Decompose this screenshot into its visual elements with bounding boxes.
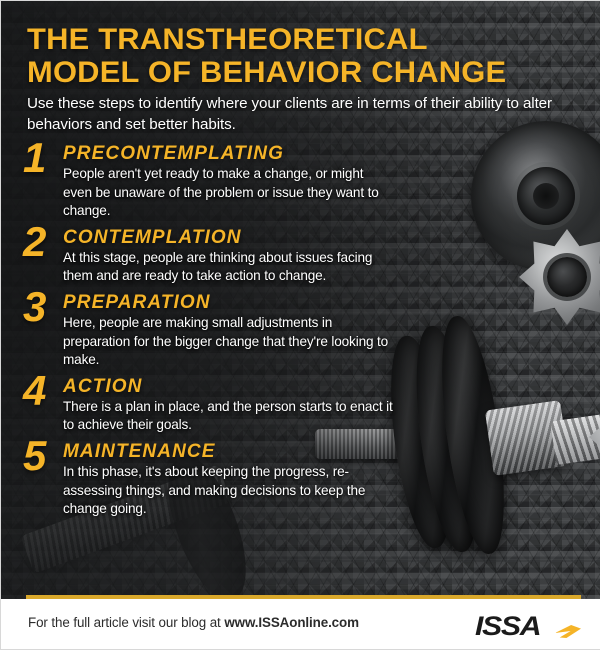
footer-cta-prefix: For the full article visit our blog at	[28, 615, 224, 630]
infographic-root: THE TRANSTHEORETICAL MODEL OF BEHAVIOR C…	[0, 0, 600, 650]
page-subtitle: Use these steps to identify where your c…	[27, 94, 579, 135]
step-number-2: 2	[23, 221, 61, 263]
page-title-line-2: MODEL OF BEHAVIOR CHANGE	[27, 56, 600, 89]
step-number-3: 3	[23, 286, 61, 328]
step-number-1: 1	[23, 137, 61, 179]
step-title-4: ACTION	[63, 376, 423, 397]
issa-wordmark: ISSA	[475, 611, 540, 642]
step-title-1: PRECONTEMPLATING	[63, 143, 423, 164]
issa-logo[interactable]: ISSA	[475, 611, 579, 641]
step-body-1: People aren't yet ready to make a change…	[63, 165, 393, 221]
footer-bar: For the full article visit our blog at w…	[1, 599, 600, 649]
step-title-3: PREPARATION	[63, 292, 423, 313]
page-title-line-1: THE TRANSTHEORETICAL	[27, 23, 600, 56]
step-item-2: 2 CONTEMPLATION At this stage, people ar…	[23, 227, 423, 286]
issa-swoosh-icon	[555, 625, 581, 638]
step-title-5: MAINTENANCE	[63, 441, 423, 462]
step-number-4: 4	[23, 370, 61, 412]
step-title-2: CONTEMPLATION	[63, 227, 423, 248]
step-item-3: 3 PREPARATION Here, people are making sm…	[23, 292, 423, 370]
step-body-5: In this phase, it's about keeping the pr…	[63, 463, 393, 519]
page-title: THE TRANSTHEORETICAL MODEL OF BEHAVIOR C…	[27, 23, 583, 89]
content-layer: THE TRANSTHEORETICAL MODEL OF BEHAVIOR C…	[1, 1, 600, 599]
footer-cta-url[interactable]: www.ISSAonline.com	[224, 615, 359, 630]
step-item-4: 4 ACTION There is a plan in place, and t…	[23, 376, 423, 435]
step-body-2: At this stage, people are thinking about…	[63, 249, 393, 286]
step-body-4: There is a plan in place, and the person…	[63, 398, 393, 435]
step-item-1: 1 PRECONTEMPLATING People aren't yet rea…	[23, 143, 423, 221]
steps-list: 1 PRECONTEMPLATING People aren't yet rea…	[23, 143, 423, 525]
step-body-3: Here, people are making small adjustment…	[63, 314, 393, 370]
step-number-5: 5	[23, 435, 61, 477]
step-item-5: 5 MAINTENANCE In this phase, it's about …	[23, 441, 423, 519]
footer-cta: For the full article visit our blog at w…	[28, 615, 359, 630]
